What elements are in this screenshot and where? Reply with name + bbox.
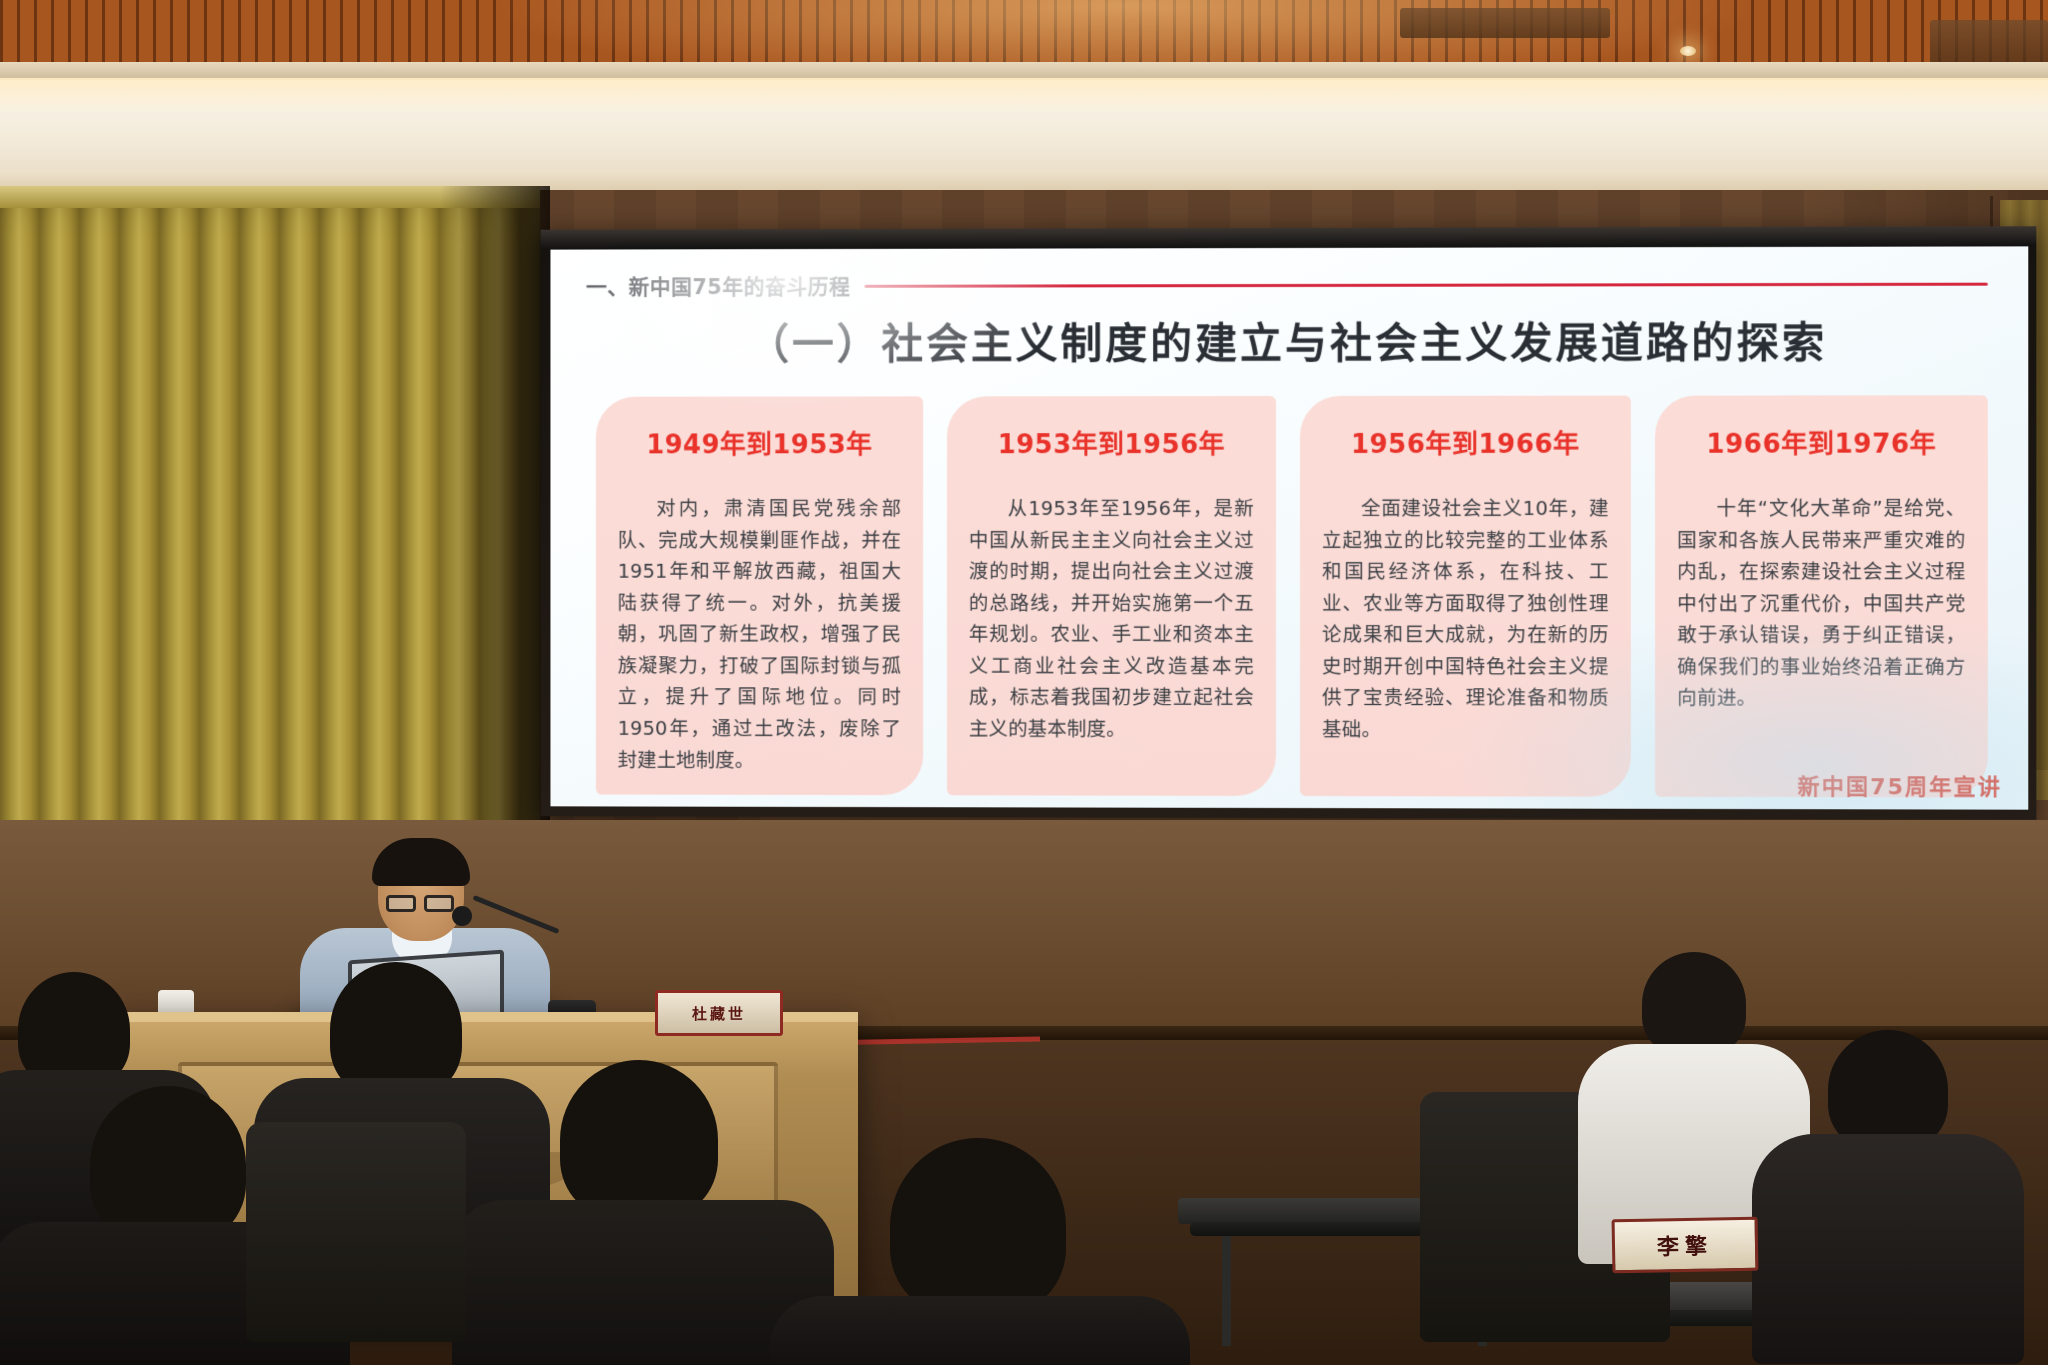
card-body: 十年“文化大革命”是给党、国家和各族人民带来严重灾难的内乱，在探索建设社会主义过… [1677,493,1965,715]
audience-shoulders [770,1296,1190,1365]
slide-title: （一）社会主义制度的建立与社会主义发展道路的探索 [550,309,2028,372]
slide-kicker-text: 一、新中国75年的奋斗历程 [586,271,850,301]
slide-card: 1953年到1956年 从1953年至1956年，是新中国从新民主主义向社会主义… [947,396,1276,796]
slide-card-row: 1949年到1953年 对内，肃清国民党残余部队、完成大规模剿匪作战，并在195… [596,395,1988,797]
audience-head [1642,952,1746,1056]
card-title: 1953年到1956年 [969,424,1254,461]
ceiling-cove-light [0,78,2048,114]
curtain-shadow [440,186,550,886]
slide-card: 1966年到1976年 十年“文化大革命”是给党、国家和各族人民带来严重灾难的内… [1655,395,1988,797]
speaker-glasses-right [424,895,454,912]
projection-screen[interactable]: 一、新中国75年的奋斗历程 （一）社会主义制度的建立与社会主义发展道路的探索 1… [541,226,2037,820]
desk-leg [1222,1236,1231,1346]
card-body: 对内，肃清国民党残余部队、完成大规模剿匪作战，并在1951年和平解放西藏，祖国大… [618,493,902,776]
slide-header: 一、新中国75年的奋斗历程 [586,269,1988,302]
audience-head [90,1086,246,1244]
ceiling-spotlight-1 [1680,46,1696,56]
speaker-nameplate: 杜藏世 [655,990,783,1036]
audience-head [1828,1030,1948,1150]
card-body: 从1953年至1956年，是新中国从新民主主义向社会主义过渡的时期，提出向社会主… [969,493,1254,746]
slide-card: 1956年到1966年 全面建设社会主义10年，建立起独立的比较完整的工业体系和… [1300,396,1631,797]
ceiling-wood-slats [0,0,2048,70]
presentation-slide[interactable]: 一、新中国75年的奋斗历程 （一）社会主义制度的建立与社会主义发展道路的探索 1… [550,246,2028,809]
card-title: 1956年到1966年 [1322,424,1609,461]
audience-head [560,1060,718,1220]
card-body: 全面建设社会主义10年，建立起独立的比较完整的工业体系和国民经济体系，在科技、工… [1322,493,1609,746]
card-title: 1966年到1976年 [1677,423,1965,460]
audience-head [890,1138,1066,1316]
card-title: 1949年到1953年 [618,424,902,461]
slide-footer-text: 新中国75周年宣讲 [1797,769,2002,802]
slide-kicker-rule [864,282,1988,287]
slide-card: 1949年到1953年 对内，肃清国民党残余部队、完成大规模剿匪作战，并在195… [596,396,923,795]
microphone-head[interactable] [452,906,472,926]
conference-room-scene: 一、新中国75年的奋斗历程 （一）社会主义制度的建立与社会主义发展道路的探索 1… [0,0,2048,1365]
ceiling-vent-right [1930,20,2048,66]
ceiling-vent-left [1400,8,1610,38]
audience-chair [246,1122,466,1342]
audience-nameplate: 李擎 [1612,1217,1759,1274]
audience-shoulders [1752,1134,2024,1364]
speaker-glasses-left [386,895,416,912]
ceiling-light-glow [0,0,2048,62]
